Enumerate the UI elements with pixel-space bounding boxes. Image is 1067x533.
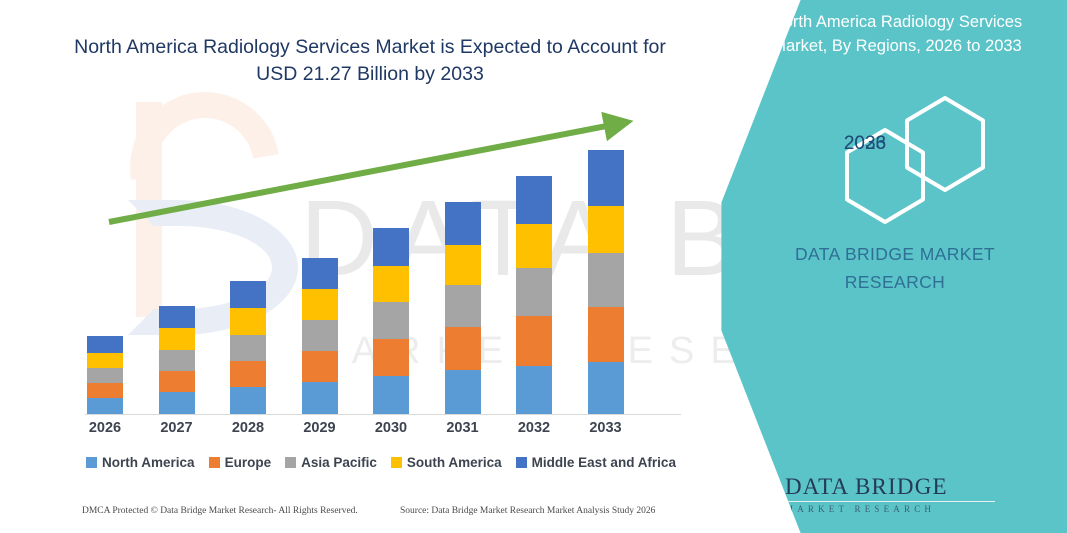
legend-item-asia-pacific[interactable]: Asia Pacific [285, 455, 377, 470]
bar-segment-north-america [516, 366, 552, 414]
x-axis-label-2033: 2033 [571, 420, 641, 436]
bar-segment-asia-pacific [302, 320, 338, 351]
legend-swatch-icon [391, 457, 402, 468]
bar-segment-middle-east-and-africa [87, 336, 123, 353]
hexagon-group: 2026 2033 [822, 95, 1052, 220]
bar-segment-asia-pacific [373, 302, 409, 339]
x-axis-label-2030: 2030 [356, 420, 426, 436]
legend-item-north-america[interactable]: North America [86, 455, 195, 470]
chart-title: North America Radiology Services Market … [70, 34, 670, 88]
right-side-panel: North America Radiology Services Market,… [707, 0, 1067, 533]
x-axis-label-2026: 2026 [70, 420, 140, 436]
bar-segment-europe [516, 316, 552, 366]
bar-segment-north-america [445, 370, 481, 414]
bar-2027 [159, 306, 195, 414]
bar-segment-middle-east-and-africa [373, 228, 409, 266]
bar-segment-asia-pacific [87, 368, 123, 383]
legend-swatch-icon [209, 457, 220, 468]
bar-segment-asia-pacific [588, 253, 624, 307]
bar-segment-south-america [516, 224, 552, 268]
bar-segment-south-america [302, 289, 338, 320]
infographic-canvas: DATA BRIDGE MARKET RESEARCH North Americ… [0, 0, 1067, 533]
bar-segment-north-america [230, 387, 266, 414]
bar-segment-europe [302, 351, 338, 382]
bar-segment-middle-east-and-africa [230, 281, 266, 308]
legend-label: Middle East and Africa [532, 455, 676, 470]
chart-plot-area [75, 110, 685, 415]
bar-2030 [373, 228, 409, 414]
bar-2029 [302, 258, 338, 414]
x-axis-line [85, 414, 681, 415]
panel-title: North America Radiology Services Market,… [747, 10, 1047, 58]
bar-segment-asia-pacific [230, 335, 266, 361]
bar-segment-middle-east-and-africa [445, 202, 481, 245]
bar-2026 [87, 336, 123, 414]
footer-source-text: Source: Data Bridge Market Research Mark… [400, 506, 655, 516]
bar-segment-europe [87, 383, 123, 398]
bar-segment-south-america [87, 353, 123, 368]
bar-segment-europe [373, 339, 409, 376]
x-axis-label-2032: 2032 [499, 420, 569, 436]
brand-logo-text: DATA BRIDGE MARKET RESEARCH [785, 474, 1015, 514]
legend-swatch-icon [285, 457, 296, 468]
bar-2033 [588, 150, 624, 414]
bar-segment-middle-east-and-africa [588, 150, 624, 206]
footer-dmca-text: DMCA Protected © Data Bridge Market Rese… [82, 506, 358, 516]
legend-swatch-icon [86, 457, 97, 468]
brand-logo-sub: MARKET RESEARCH [785, 504, 1015, 514]
x-axis-label-2029: 2029 [285, 420, 355, 436]
bar-segment-north-america [159, 392, 195, 414]
bar-segment-south-america [230, 308, 266, 335]
bar-segment-asia-pacific [159, 350, 195, 371]
legend-item-south-america[interactable]: South America [391, 455, 502, 470]
hexagon-2033-label: 2033 [822, 95, 908, 193]
legend-label: Asia Pacific [301, 455, 377, 470]
bar-2032 [516, 176, 552, 414]
x-axis-label-2028: 2028 [213, 420, 283, 436]
x-axis-label-2027: 2027 [142, 420, 212, 436]
stacked-bars-group [75, 110, 685, 414]
bar-segment-north-america [588, 362, 624, 414]
bar-segment-north-america [302, 382, 338, 414]
brand-logo: DATA BRIDGE MARKET RESEARCH [717, 468, 1047, 526]
bar-segment-south-america [445, 245, 481, 285]
bar-segment-europe [230, 361, 266, 387]
x-axis-labels: 20262027202820292030203120322033 [75, 420, 685, 444]
bar-segment-middle-east-and-africa [159, 306, 195, 328]
panel-brand-text: DATA BRIDGE MARKET RESEARCH [745, 240, 1045, 296]
bar-segment-europe [159, 371, 195, 392]
bar-segment-europe [445, 327, 481, 370]
legend-label: South America [407, 455, 502, 470]
bar-2031 [445, 202, 481, 414]
bar-segment-north-america [373, 376, 409, 414]
legend-swatch-icon [516, 457, 527, 468]
x-axis-label-2031: 2031 [428, 420, 498, 436]
bar-2028 [230, 281, 266, 414]
legend-label: North America [102, 455, 195, 470]
bar-segment-south-america [159, 328, 195, 350]
legend-item-middle-east-and-africa[interactable]: Middle East and Africa [516, 455, 676, 470]
bar-segment-middle-east-and-africa [302, 258, 338, 289]
chart-legend: North AmericaEuropeAsia PacificSouth Ame… [75, 455, 687, 470]
footer: DMCA Protected © Data Bridge Market Rese… [0, 506, 720, 526]
brand-logo-main: DATA BRIDGE [785, 474, 1015, 500]
bar-segment-north-america [87, 398, 123, 414]
data-bridge-logo-icon [717, 470, 779, 524]
bar-segment-south-america [373, 266, 409, 302]
legend-label: Europe [225, 455, 272, 470]
bar-segment-asia-pacific [445, 285, 481, 327]
bar-segment-asia-pacific [516, 268, 552, 316]
bar-segment-middle-east-and-africa [516, 176, 552, 224]
brand-logo-divider [785, 501, 995, 502]
bar-segment-south-america [588, 206, 624, 253]
legend-item-europe[interactable]: Europe [209, 455, 272, 470]
bar-segment-europe [588, 307, 624, 362]
